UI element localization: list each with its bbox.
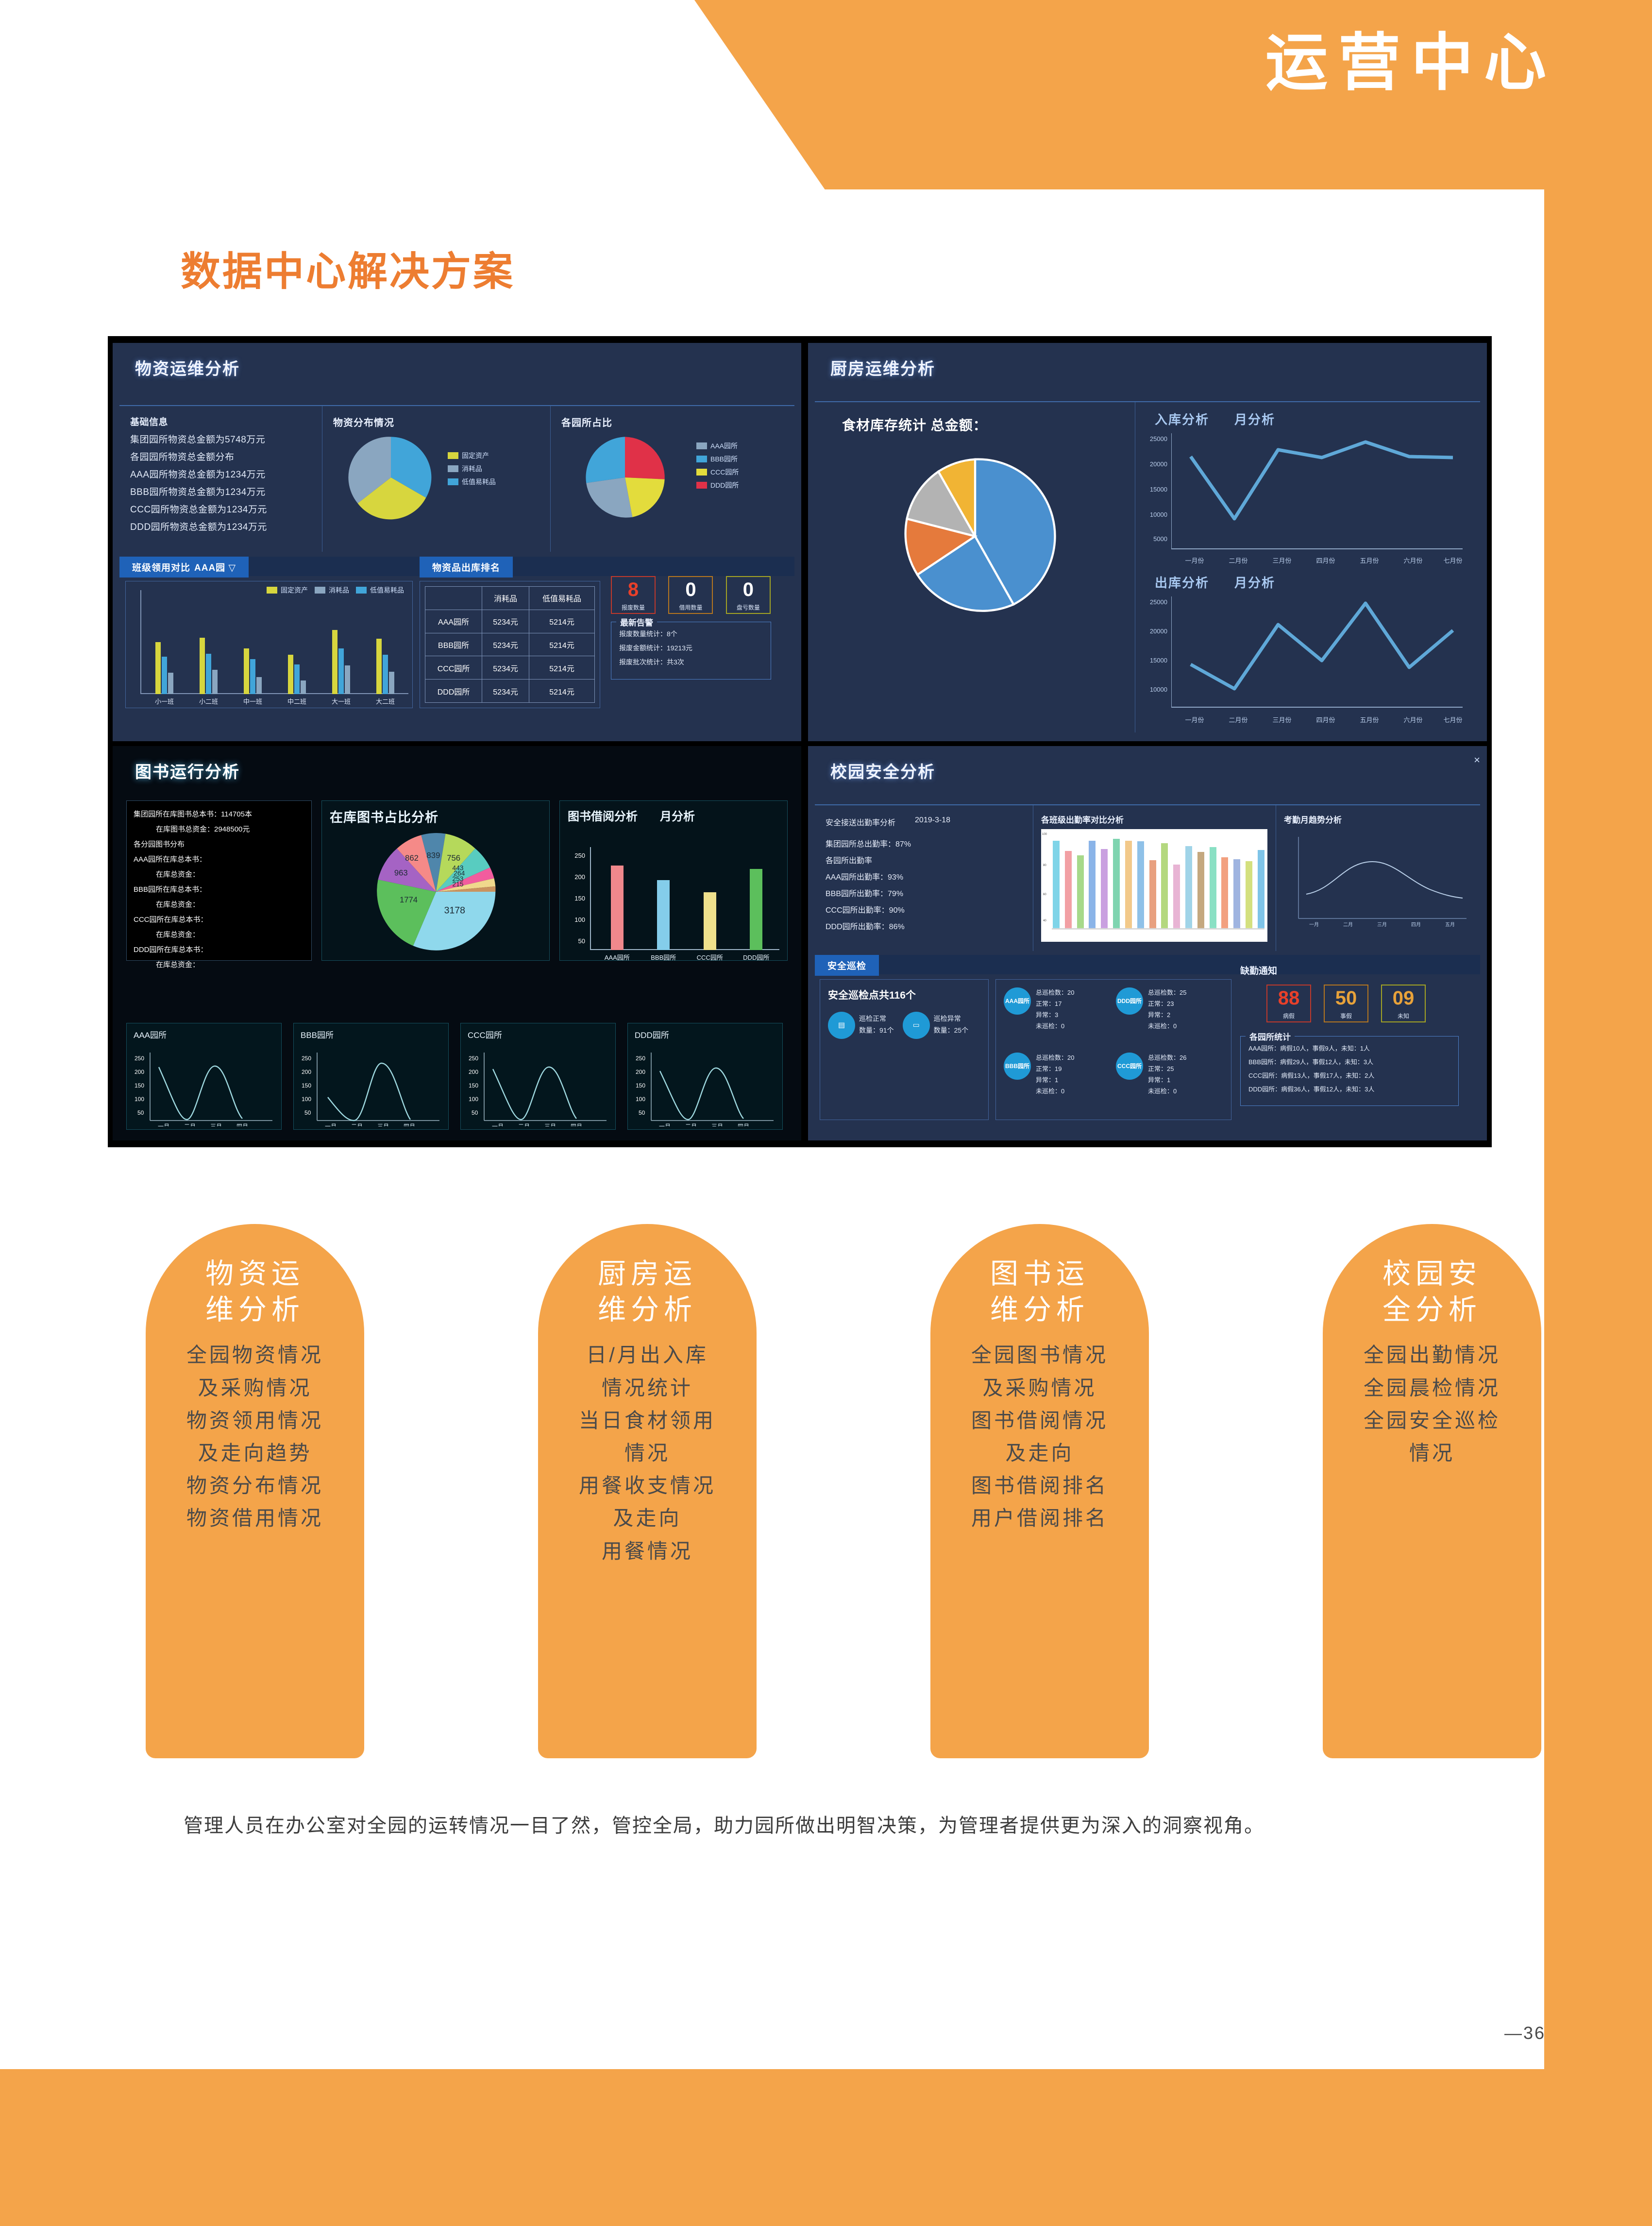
basic-info-line: BBB园所物资总金额为1234万元 bbox=[130, 485, 322, 498]
materials-basic-info: 基础信息 集团园所物资总金额为5748万元 各园园所物资总金额分布 AAA园所物… bbox=[119, 406, 322, 552]
books-info-line: 在库总资金： bbox=[134, 869, 304, 879]
kitchen-stock-section: 食材库存统计 总金额： bbox=[815, 402, 1135, 732]
alert-line: 报废数量统计：8个 bbox=[619, 629, 763, 639]
svg-text:150: 150 bbox=[135, 1082, 144, 1089]
alerts-title: 最新告警 bbox=[616, 616, 657, 628]
svg-text:四月: 四月 bbox=[738, 1123, 749, 1126]
attendance-heading: 安全接送出勤率分析 bbox=[826, 816, 895, 828]
card-line: 及走向 bbox=[538, 1502, 757, 1534]
attendance-line: CCC园所出勤率：90% bbox=[826, 903, 1033, 915]
card-line: 情况统计 bbox=[538, 1372, 757, 1404]
pie-value: 839 bbox=[427, 851, 440, 860]
svg-text:一月: 一月 bbox=[158, 1123, 169, 1126]
inspection-abnormal: ▭ 巡检异常数量：25个 bbox=[903, 1012, 969, 1039]
books-info-line: 在库图书总资金：2948500元 bbox=[134, 824, 304, 834]
share-title: 各园所占比 bbox=[561, 415, 794, 429]
absence-detail-line: BBB园所：病假29人，事假12人，未知：3人 bbox=[1248, 1057, 1450, 1066]
card-line: 图书借阅排名 bbox=[930, 1469, 1149, 1502]
absence-detail-line: AAA园所：病假10人，事假9人，未知：1人 bbox=[1248, 1043, 1450, 1053]
svg-text:50: 50 bbox=[639, 1109, 645, 1116]
feature-card-materials[interactable]: 物资运维分析 全园物资情况 及采购情况 物资领用情况 及走向趋势 物资分布情况 … bbox=[146, 1224, 364, 1758]
books-borrow-bar-chart: 250 200 150 100 50 AAA园所 BBB园所 CCC园所 DDD… bbox=[560, 843, 787, 958]
card-line: 日/月出入库 bbox=[538, 1339, 757, 1371]
latest-alerts-panel: 最新告警 报废数量统计：8个 报废金额统计：19213元 报废批次统计：共3次 bbox=[611, 622, 771, 680]
svg-text:100: 100 bbox=[302, 1096, 311, 1103]
books-info-line: AAA园所在库总本书： bbox=[134, 854, 304, 864]
basic-info-line: DDD园所物资总金额为1234万元 bbox=[130, 520, 322, 533]
mini-chart-ddd: DDD园所 25020015010050 一月二月三月四月 bbox=[627, 1023, 783, 1130]
books-pie-title: 在库图书占比分析 bbox=[330, 807, 549, 826]
card-line: 及采购情况 bbox=[930, 1372, 1149, 1404]
park-avatar: DDD园所 bbox=[1116, 987, 1143, 1015]
mini-title: CCC园所 bbox=[468, 1028, 615, 1040]
share-legend: AAA园所 BBB园所 CCC园所 DDD园所 bbox=[696, 441, 739, 493]
park-avatar: BBB园所 bbox=[1004, 1053, 1031, 1080]
bar-group: 小一班 bbox=[155, 605, 173, 694]
absence-title: 缺勤通知 bbox=[1240, 964, 1476, 977]
svg-text:100: 100 bbox=[135, 1096, 144, 1103]
inspection-summary: 安全巡检点共116个 ▤ 巡检正常数量：91个 ▭ 巡检异常数量：25个 bbox=[820, 979, 989, 1120]
status-badge: 8报废数量 bbox=[611, 576, 656, 614]
books-info-line: DDD园所在库总本书： bbox=[134, 944, 304, 954]
right-orange-strip bbox=[1544, 189, 1652, 2069]
stock-title: 食材库存统计 总金额： bbox=[842, 415, 1135, 434]
park-block: DDD园所总巡检数：25正常：23异常：2未巡检：0 bbox=[1116, 987, 1223, 1047]
attendance-line: DDD园所出勤率：86% bbox=[826, 920, 1033, 932]
legend-item: BBB园所 bbox=[696, 454, 739, 464]
mini-title: AAA园所 bbox=[134, 1028, 281, 1040]
svg-text:100: 100 bbox=[636, 1096, 645, 1103]
kitchen-charts: 入库分析 月分析 25000 20000 15000 10000 5000 一月… bbox=[1135, 402, 1480, 732]
inbound-subtitle: 月分析 bbox=[1234, 410, 1275, 428]
table-row: AAA园所5234元5214元 bbox=[425, 610, 595, 633]
outbound-line-chart: 出库分析 月分析 25000 20000 15000 10000 一月份 二月份… bbox=[1148, 573, 1468, 729]
bar-group: 中二班 bbox=[288, 605, 306, 694]
legend-item: 消耗品 bbox=[448, 464, 496, 474]
warning-device-icon: ▭ bbox=[903, 1012, 930, 1039]
table-row: CCC园所5234元5214元 bbox=[425, 656, 595, 680]
distribution-legend: 固定资产 消耗品 低值易耗品 bbox=[448, 451, 496, 490]
card-line: 全园出勤情况 bbox=[1323, 1339, 1541, 1371]
svg-text:一月: 一月 bbox=[1309, 922, 1319, 928]
attendance-line: 各园所出勤率 bbox=[826, 854, 1033, 866]
books-info-line: 各分园图书分布 bbox=[134, 839, 304, 849]
books-info-line: 在库总资金： bbox=[134, 899, 304, 909]
card-line: 及走向 bbox=[930, 1437, 1149, 1469]
panel-safety: 校园安全分析 × 安全接送出勤率分析 2019-3-18 集团园所总出勤率：87… bbox=[808, 746, 1487, 1140]
device-icon: ▤ bbox=[828, 1012, 855, 1039]
rank-tab[interactable]: 物资品出库排名 bbox=[420, 557, 513, 578]
svg-text:200: 200 bbox=[636, 1069, 645, 1075]
svg-text:三月: 三月 bbox=[1377, 922, 1387, 928]
close-icon[interactable]: × bbox=[1474, 754, 1480, 766]
dashboard-screenshot: 物资运维分析 基础信息 集团园所物资总金额为5748万元 各园园所物资总金额分布… bbox=[108, 336, 1492, 1147]
pie-value: 963 bbox=[394, 868, 408, 878]
svg-text:50: 50 bbox=[472, 1109, 478, 1116]
card-line: 物资分布情况 bbox=[146, 1469, 364, 1502]
svg-text:250: 250 bbox=[469, 1055, 478, 1062]
card-body: 全园图书情况 及采购情况 图书借阅情况 及走向 图书借阅排名 用户借阅排名 bbox=[930, 1339, 1149, 1534]
svg-text:二月: 二月 bbox=[1343, 922, 1353, 928]
svg-text:二月: 二月 bbox=[351, 1123, 363, 1126]
basic-info-line: 各园园所物资总金额分布 bbox=[130, 450, 322, 463]
bar-group: 小二班 bbox=[200, 605, 218, 694]
bar-chart-legend: 固定资产 消耗品 低值易耗品 bbox=[267, 585, 404, 598]
card-line: 情况 bbox=[1323, 1437, 1541, 1469]
share-pie-chart bbox=[579, 431, 671, 524]
bottom-orange-band bbox=[0, 2069, 1652, 2226]
legend-item: 低值易耗品 bbox=[448, 477, 496, 487]
svg-text:100: 100 bbox=[469, 1096, 478, 1103]
inspection-total: 安全巡检点共116个 bbox=[828, 987, 980, 1002]
svg-text:三月: 三月 bbox=[377, 1123, 389, 1126]
card-title: 校园安全分析 bbox=[1323, 1256, 1541, 1328]
svg-text:150: 150 bbox=[636, 1082, 645, 1089]
pie-value: 3178 bbox=[444, 905, 465, 916]
card-line: 图书借阅情况 bbox=[930, 1404, 1149, 1437]
park-block: AAA园所总巡检数：20正常：17异常：3未巡检：0 bbox=[1004, 987, 1111, 1047]
bar-group: 中一班 bbox=[244, 605, 262, 694]
borrow-title: 图书借阅分析 bbox=[568, 807, 638, 824]
alert-line: 报废金额统计：19213元 bbox=[619, 643, 763, 653]
card-body: 日/月出入库 情况统计 当日食材领用 情况 用餐收支情况 及走向 用餐情况 bbox=[538, 1339, 757, 1567]
class-compare-selector[interactable]: AAA园 ▽ bbox=[194, 557, 249, 578]
attendance-line: AAA园所出勤率：93% bbox=[826, 870, 1033, 882]
svg-text:150: 150 bbox=[302, 1082, 311, 1089]
mini-chart-bbb: BBB园所 25020015010050 一月二月三月四月 bbox=[293, 1023, 449, 1130]
svg-text:二月: 二月 bbox=[685, 1123, 697, 1126]
legend-item: AAA园所 bbox=[696, 441, 739, 451]
panel-safety-title: 校园安全分析 bbox=[808, 746, 1487, 782]
books-info-box: 集团园所在库图书总本书：114705本 在库图书总资金：2948500元 各分园… bbox=[126, 800, 312, 961]
card-line: 用餐情况 bbox=[538, 1535, 757, 1567]
svg-text:三月: 三月 bbox=[210, 1123, 222, 1126]
inbound-title: 入库分析 bbox=[1155, 410, 1209, 428]
svg-text:四月: 四月 bbox=[236, 1123, 248, 1126]
rank-table-wrapper: 消耗品 低值易耗品 AAA园所5234元5214元 BBB园所5234元5214… bbox=[420, 581, 600, 708]
legend-item: 固定资产 bbox=[448, 451, 496, 460]
class-compare-bar-chart: 固定资产 消耗品 低值易耗品 小一班 小二班 中一班 中二班 大一班 大二班 bbox=[125, 581, 413, 708]
card-title: 物资运维分析 bbox=[146, 1256, 364, 1328]
inbound-line-chart: 入库分析 月分析 25000 20000 15000 10000 5000 一月… bbox=[1148, 410, 1468, 565]
mini-title: DDD园所 bbox=[635, 1028, 782, 1040]
legend-item: 消耗品 bbox=[315, 585, 349, 595]
legend-item: 低值易耗品 bbox=[356, 585, 404, 595]
panel-materials-title: 物资运维分析 bbox=[113, 343, 801, 379]
status-badge: 50事假 bbox=[1324, 985, 1368, 1022]
bar-group: 大一班 bbox=[332, 605, 350, 694]
card-line: 全园物资情况 bbox=[146, 1339, 364, 1371]
svg-text:二月: 二月 bbox=[518, 1123, 530, 1126]
panel-materials: 物资运维分析 基础信息 集团园所物资总金额为5748万元 各园园所物资总金额分布… bbox=[113, 343, 801, 741]
borrow-subtitle: 月分析 bbox=[660, 807, 695, 824]
status-badge: 0借用数量 bbox=[668, 576, 713, 614]
pie-value: 862 bbox=[405, 853, 419, 863]
class-compare-tab-label: 班级领用对比 bbox=[119, 557, 194, 578]
class-chart-title: 各班级出勤率对比分析 bbox=[1041, 813, 1268, 825]
mini-chart-ccc: CCC园所 25020015010050 一月二月三月四月 bbox=[460, 1023, 616, 1130]
alert-line: 报废批次统计：共3次 bbox=[619, 657, 763, 667]
park-avatar: AAA园所 bbox=[1004, 987, 1031, 1015]
card-line: 全园安全巡检 bbox=[1323, 1404, 1541, 1437]
stock-pie-chart bbox=[888, 449, 1062, 624]
chevron-down-icon: ▽ bbox=[228, 563, 236, 573]
trend-title: 考勤月趋势分析 bbox=[1284, 813, 1472, 825]
status-badge: 88病假 bbox=[1266, 985, 1311, 1022]
distribution-title: 物资分布情况 bbox=[333, 415, 550, 429]
card-line: 当日食材领用 bbox=[538, 1404, 757, 1437]
svg-text:四月: 四月 bbox=[1411, 922, 1421, 928]
svg-text:二月: 二月 bbox=[184, 1123, 196, 1126]
card-title: 厨房运维分析 bbox=[538, 1256, 757, 1328]
svg-text:250: 250 bbox=[302, 1055, 311, 1062]
svg-text:200: 200 bbox=[469, 1069, 478, 1075]
svg-text:四月: 四月 bbox=[571, 1123, 582, 1126]
books-pie-card: 在库图书占比分析 3178 1774 963 862 839 756 443 bbox=[321, 800, 550, 961]
materials-row-2: 班级领用对比AAA园 ▽ 物资品出库排名 固定资产 消耗品 低值易耗品 小一班 … bbox=[119, 557, 794, 718]
panel-books: 图书运行分析 集团园所在库图书总本书：114705本 在库图书总资金：29485… bbox=[113, 746, 801, 1140]
inspection-normal: ▤ 巡检正常数量：91个 bbox=[828, 1012, 894, 1039]
absence-detail-line: DDD园所：病假36人，事假12人，未知：3人 bbox=[1248, 1084, 1450, 1093]
status-badge: 0盘亏数量 bbox=[726, 576, 771, 614]
svg-text:50: 50 bbox=[137, 1109, 144, 1116]
status-badge: 09未知 bbox=[1381, 985, 1426, 1022]
absence-detail-title: 各园所统计 bbox=[1246, 1030, 1295, 1042]
park-block: CCC园所总巡检数：26正常：25异常：1未巡检：0 bbox=[1116, 1053, 1223, 1112]
svg-text:150: 150 bbox=[469, 1082, 478, 1089]
card-line: 及走向趋势 bbox=[146, 1437, 364, 1469]
park-avatar: CCC园所 bbox=[1116, 1053, 1143, 1080]
card-line: 用餐收支情况 bbox=[538, 1469, 757, 1502]
books-pie-chart: 3178 1774 963 862 839 756 443 264 253 21… bbox=[369, 824, 504, 959]
card-title: 图书运维分析 bbox=[930, 1256, 1149, 1328]
attendance-info: 安全接送出勤率分析 2019-3-18 集团园所总出勤率：87% 各园所出勤率 … bbox=[815, 805, 1033, 951]
panel-kitchen-title: 厨房运维分析 bbox=[808, 343, 1487, 379]
card-line: 用户借阅排名 bbox=[930, 1502, 1149, 1534]
card-body: 全园物资情况 及采购情况 物资领用情况 及走向趋势 物资分布情况 物资借用情况 bbox=[146, 1339, 364, 1534]
legend-item: CCC园所 bbox=[696, 467, 739, 477]
absence-section: 缺勤通知 88病假 50事假 09未知 各园所统计 AAA园所：病假10人，事假… bbox=[1240, 964, 1476, 1120]
distribution-pie-chart bbox=[345, 431, 437, 524]
svg-text:200: 200 bbox=[302, 1069, 311, 1075]
books-info-line: 在库总资金： bbox=[134, 959, 304, 969]
attendance-line: 集团园所总出勤率：87% bbox=[826, 837, 1033, 849]
feature-card-safety[interactable]: 校园安全分析 全园出勤情况 全园晨检情况 全园安全巡检 情况 bbox=[1323, 1224, 1541, 1758]
svg-text:四月: 四月 bbox=[404, 1123, 415, 1126]
inspection-parks: AAA园所总巡检数：20正常：17异常：3未巡检：0 DDD园所总巡检数：25正… bbox=[995, 979, 1231, 1120]
materials-share-chart: 各园所占比 AAA园所 BBB园所 CCC园所 DDD园所 bbox=[551, 406, 794, 552]
page-title: 数据中心解决方案 bbox=[181, 239, 515, 297]
feature-card-kitchen[interactable]: 厨房运维分析 日/月出入库 情况统计 当日食材领用 情况 用餐收支情况 及走向 … bbox=[538, 1224, 757, 1758]
basic-info-line: 集团园所物资总金额为5748万元 bbox=[130, 432, 322, 445]
basic-info-line: AAA园所物资总金额为1234万元 bbox=[130, 467, 322, 480]
header-title: 运营中心 bbox=[1265, 29, 1557, 98]
svg-text:50: 50 bbox=[304, 1109, 311, 1116]
table-header-row: 消耗品 低值易耗品 bbox=[425, 587, 595, 610]
absence-detail-line: CCC园所：病假13人，事假17人，未知：2人 bbox=[1248, 1071, 1450, 1080]
attendance-date: 2019-3-18 bbox=[915, 816, 950, 828]
books-info-line: 集团园所在库图书总本书：114705本 bbox=[134, 809, 304, 819]
books-info-line: BBB园所在库总本书： bbox=[134, 884, 304, 894]
legend-item: DDD园所 bbox=[696, 480, 739, 490]
basic-info-line: CCC园所物资总金额为1234万元 bbox=[130, 502, 322, 515]
class-attendance-chart: 各班级出勤率对比分析 100 80 60 bbox=[1033, 805, 1276, 951]
bar-group: 大二班 bbox=[376, 605, 394, 694]
card-line: 物资借用情况 bbox=[146, 1502, 364, 1534]
footer-paragraph: 管理人员在办公室对全园的运转情况一目了然，管控全局，助力园所做出明智决策，为管理… bbox=[184, 1808, 1470, 1844]
inspection-tab-label: 安全巡检 bbox=[815, 955, 879, 976]
card-line: 全园图书情况 bbox=[930, 1339, 1149, 1371]
mini-title: BBB园所 bbox=[301, 1028, 448, 1040]
svg-text:一月: 一月 bbox=[659, 1123, 671, 1126]
svg-text:三月: 三月 bbox=[544, 1123, 556, 1126]
feature-cards: 物资运维分析 全园物资情况 及采购情况 物资领用情况 及走向趋势 物资分布情况 … bbox=[146, 1224, 1467, 1773]
svg-text:一月: 一月 bbox=[325, 1123, 337, 1126]
attendance-trend-chart: 考勤月趋势分析 一月二月 三月四月 五月 bbox=[1276, 805, 1480, 951]
panel-books-title: 图书运行分析 bbox=[113, 746, 801, 782]
svg-text:200: 200 bbox=[135, 1069, 144, 1075]
class-compare-tab[interactable]: 班级领用对比AAA园 ▽ bbox=[119, 557, 249, 578]
absence-detail-panel: 各园所统计 AAA园所：病假10人，事假9人，未知：1人 BBB园所：病假29人… bbox=[1240, 1036, 1459, 1106]
panel-kitchen: 厨房运维分析 食材库存统计 总金额： bbox=[808, 343, 1487, 741]
materials-row-1: 基础信息 集团园所物资总金额为5748万元 各园园所物资总金额分布 AAA园所物… bbox=[119, 405, 794, 551]
mini-chart-aaa: AAA园所 25020015010050 一月二月三月四月 bbox=[126, 1023, 282, 1130]
pie-value: 1774 bbox=[400, 895, 418, 904]
card-line: 全园晨检情况 bbox=[1323, 1372, 1541, 1404]
card-body: 全园出勤情况 全园晨检情况 全园安全巡检 情况 bbox=[1323, 1339, 1541, 1469]
svg-text:250: 250 bbox=[135, 1055, 144, 1062]
feature-card-books[interactable]: 图书运维分析 全园图书情况 及采购情况 图书借阅情况 及走向 图书借阅排名 用户… bbox=[930, 1224, 1149, 1758]
pie-value: 215 bbox=[452, 880, 463, 888]
books-borrow-card: 图书借阅分析 月分析 250 200 150 100 50 AAA园所 BBB园… bbox=[559, 800, 788, 961]
svg-text:一月: 一月 bbox=[492, 1123, 504, 1126]
header-white-wedge bbox=[0, 0, 826, 190]
card-line: 物资领用情况 bbox=[146, 1404, 364, 1437]
legend-item: 固定资产 bbox=[267, 585, 308, 595]
pie-value: 756 bbox=[447, 853, 460, 863]
outbound-title: 出库分析 bbox=[1155, 573, 1209, 591]
materials-distribution-chart: 物资分布情况 固定资产 消耗品 低值易耗品 bbox=[322, 406, 551, 552]
inspection-tab[interactable]: 安全巡检 bbox=[815, 955, 879, 976]
books-info-line: CCC园所在库总本书： bbox=[134, 914, 304, 924]
outbound-subtitle: 月分析 bbox=[1234, 573, 1275, 591]
table-row: BBB园所5234元5214元 bbox=[425, 633, 595, 656]
materials-stats: 8报废数量 0借用数量 0盘亏数量 最新告警 报废数量统计：8个 报废金额统计：… bbox=[611, 576, 771, 680]
rank-tab-label: 物资品出库排名 bbox=[420, 557, 513, 578]
svg-text:五月: 五月 bbox=[1445, 922, 1455, 928]
svg-text:三月: 三月 bbox=[711, 1123, 723, 1126]
rank-table: 消耗品 低值易耗品 AAA园所5234元5214元 BBB园所5234元5214… bbox=[425, 586, 595, 703]
card-line: 及采购情况 bbox=[146, 1372, 364, 1404]
basic-info-heading: 基础信息 bbox=[130, 415, 322, 428]
table-row: DDD园所5234元5214元 bbox=[425, 680, 595, 703]
books-info-line: 在库总资金： bbox=[134, 929, 304, 939]
svg-text:250: 250 bbox=[636, 1055, 645, 1062]
park-block: BBB园所总巡检数：20正常：19异常：1未巡检：0 bbox=[1004, 1053, 1111, 1112]
attendance-line: BBB园所出勤率：79% bbox=[826, 887, 1033, 899]
card-line: 情况 bbox=[538, 1437, 757, 1469]
